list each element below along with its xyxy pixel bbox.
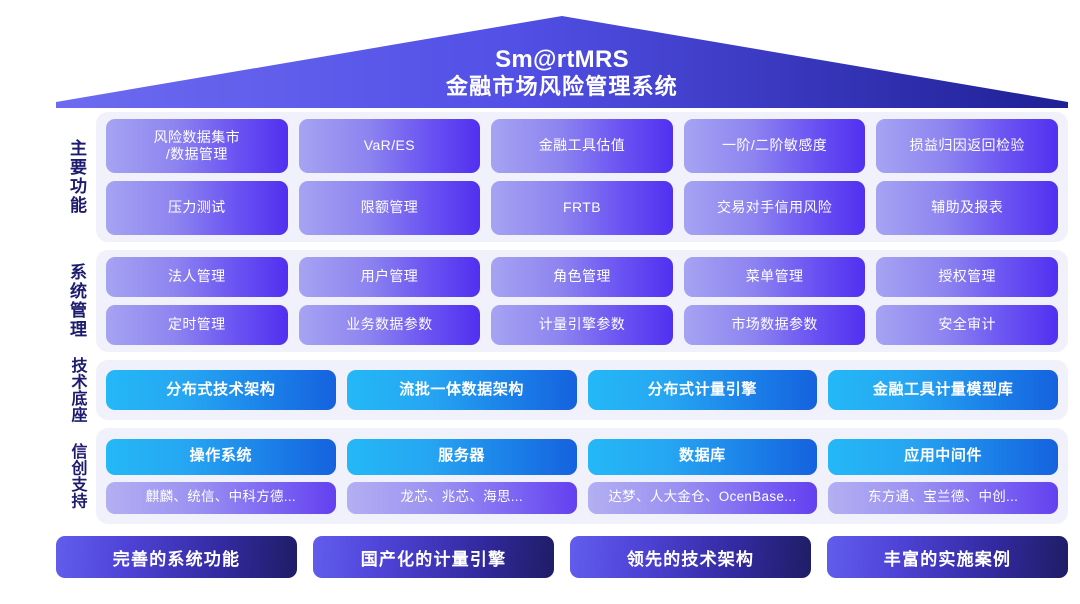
- tile-legal-entity-management[interactable]: 法人管理: [106, 257, 288, 297]
- footer-highlights: 完善的系统功能 国产化的计量引擎 领先的技术架构 丰富的实施案例: [56, 536, 1068, 578]
- tile-label: 应用中间件: [904, 447, 982, 466]
- tile-pnl-attribution-backtest[interactable]: 损益归因返回检验: [876, 119, 1058, 173]
- tile-label: 金融工具估值: [539, 137, 625, 154]
- section-technology-foundation: 技术底座 分布式技术架构 流批一体数据架构 分布式计量引擎 金融工具计量模型库: [56, 360, 1068, 420]
- tile-instrument-valuation[interactable]: 金融工具估值: [491, 119, 673, 173]
- tile-row: 风险数据集市/数据管理 VaR/ES 金融工具估值 一阶/二阶敏感度 损益归因返…: [106, 119, 1058, 173]
- panel-xinchuang-support: 操作系统 麒麟、统信、中科方德... 服务器 龙芯、兆芯、海思...: [96, 428, 1068, 524]
- tile-label: 流批一体数据架构: [399, 381, 524, 400]
- tile-label: 角色管理: [553, 268, 611, 285]
- banner-rich-implementation-cases[interactable]: 丰富的实施案例: [827, 536, 1068, 578]
- tile-label: 授权管理: [938, 268, 996, 285]
- tile-row: 分布式技术架构 流批一体数据架构 分布式计量引擎 金融工具计量模型库: [106, 370, 1058, 410]
- tile-database[interactable]: 数据库: [588, 439, 818, 475]
- tile-operating-system[interactable]: 操作系统: [106, 439, 336, 475]
- tile-row: 操作系统 麒麟、统信、中科方德... 服务器 龙芯、兆芯、海思...: [106, 439, 1058, 514]
- tile-row: 压力测试 限额管理 FRTB 交易对手信用风险 辅助及报表: [106, 181, 1058, 235]
- tile-label: 风险数据集市/数据管理: [154, 129, 240, 164]
- panel-system-management: 法人管理 用户管理 角色管理 菜单管理 授权管理 定时管理: [96, 250, 1068, 352]
- tile-label: 金融工具计量模型库: [873, 381, 1013, 400]
- tile-stream-batch-data-architecture[interactable]: 流批一体数据架构: [347, 370, 577, 410]
- tile-label: 分布式技术架构: [166, 381, 275, 400]
- tile-stress-testing[interactable]: 压力测试: [106, 181, 288, 235]
- tile-row: 法人管理 用户管理 角色管理 菜单管理 授权管理: [106, 257, 1058, 297]
- xinchuang-group-server: 服务器 龙芯、兆芯、海思...: [347, 439, 577, 514]
- tile-label: 法人管理: [168, 268, 226, 285]
- tile-menu-management[interactable]: 菜单管理: [684, 257, 866, 297]
- tile-server-vendors[interactable]: 龙芯、兆芯、海思...: [347, 482, 577, 514]
- tile-business-data-params[interactable]: 业务数据参数: [299, 305, 481, 345]
- banner-complete-system-functions[interactable]: 完善的系统功能: [56, 536, 297, 578]
- tile-label: 定时管理: [168, 316, 226, 333]
- section-label-main-functions: 主要功能: [56, 112, 96, 242]
- tile-label: 损益归因返回检验: [910, 137, 1025, 154]
- tile-security-audit[interactable]: 安全审计: [876, 305, 1058, 345]
- tile-market-data-params[interactable]: 市场数据参数: [684, 305, 866, 345]
- tile-label: 达梦、人大金仓、OcenBase...: [608, 489, 796, 506]
- tile-distributed-architecture[interactable]: 分布式技术架构: [106, 370, 336, 410]
- section-label-xinchuang-support: 信创支持: [56, 428, 96, 524]
- architecture-diagram: Sm@rtMRS 金融市场风险管理系统 主要功能 风险数据集市/数据管理 VaR…: [0, 0, 1080, 604]
- tile-label: 交易对手信用风险: [717, 199, 832, 216]
- tile-auxiliary-reports[interactable]: 辅助及报表: [876, 181, 1058, 235]
- tile-instrument-model-library[interactable]: 金融工具计量模型库: [828, 370, 1058, 410]
- tile-authorization-management[interactable]: 授权管理: [876, 257, 1058, 297]
- tile-role-management[interactable]: 角色管理: [491, 257, 673, 297]
- tile-scheduler-management[interactable]: 定时管理: [106, 305, 288, 345]
- banner-label: 国产化的计量引擎: [361, 545, 507, 570]
- tile-label: VaR/ES: [364, 137, 415, 154]
- banner-label: 完善的系统功能: [113, 545, 240, 570]
- section-xinchuang-support: 信创支持 操作系统 麒麟、统信、中科方德... 服务器 龙芯、: [56, 428, 1068, 524]
- xinchuang-group-middleware: 应用中间件 东方通、宝兰德、中创...: [828, 439, 1058, 514]
- tile-row: 定时管理 业务数据参数 计量引擎参数 市场数据参数 安全审计: [106, 305, 1058, 345]
- panel-technology-foundation: 分布式技术架构 流批一体数据架构 分布式计量引擎 金融工具计量模型库: [96, 360, 1068, 420]
- tile-distributed-calc-engine[interactable]: 分布式计量引擎: [588, 370, 818, 410]
- tile-user-management[interactable]: 用户管理: [299, 257, 481, 297]
- tile-label: 一阶/二阶敏感度: [722, 137, 827, 154]
- tile-application-middleware-vendors[interactable]: 东方通、宝兰德、中创...: [828, 482, 1058, 514]
- tile-label: 数据库: [679, 447, 726, 466]
- tile-label: 压力测试: [168, 199, 226, 216]
- tile-var-es[interactable]: VaR/ES: [299, 119, 481, 173]
- section-label-text: 主要功能: [67, 139, 85, 215]
- tile-label: 业务数据参数: [346, 316, 432, 333]
- tile-label: 龙芯、兆芯、海思...: [400, 489, 523, 506]
- tile-server[interactable]: 服务器: [347, 439, 577, 475]
- tile-risk-datamart[interactable]: 风险数据集市/数据管理: [106, 119, 288, 173]
- banner-domestic-calc-engine[interactable]: 国产化的计量引擎: [313, 536, 554, 578]
- xinchuang-group-database: 数据库 达梦、人大金仓、OcenBase...: [588, 439, 818, 514]
- banner-label: 丰富的实施案例: [884, 545, 1011, 570]
- roof-header: Sm@rtMRS 金融市场风险管理系统: [56, 16, 1068, 108]
- section-system-management: 系统管理 法人管理 用户管理 角色管理 菜单管理 授权管理: [56, 250, 1068, 352]
- section-label-text: 系统管理: [67, 263, 85, 339]
- tile-sensitivity[interactable]: 一阶/二阶敏感度: [684, 119, 866, 173]
- tile-label: 限额管理: [361, 199, 419, 216]
- tile-label: 辅助及报表: [931, 199, 1003, 216]
- tile-label: 计量引擎参数: [539, 316, 625, 333]
- tile-calc-engine-params[interactable]: 计量引擎参数: [491, 305, 673, 345]
- tile-frtb[interactable]: FRTB: [491, 181, 673, 235]
- tile-limit-management[interactable]: 限额管理: [299, 181, 481, 235]
- roof-shape: [56, 16, 1068, 108]
- tile-label: 用户管理: [361, 268, 419, 285]
- banner-leading-tech-architecture[interactable]: 领先的技术架构: [570, 536, 811, 578]
- section-main-functions: 主要功能 风险数据集市/数据管理 VaR/ES 金融工具估值 一阶/二阶敏感度 …: [56, 112, 1068, 242]
- tile-database-vendors[interactable]: 达梦、人大金仓、OcenBase...: [588, 482, 818, 514]
- banner-label: 领先的技术架构: [627, 545, 754, 570]
- tile-label: 安全审计: [938, 316, 996, 333]
- tile-label: FRTB: [563, 199, 601, 216]
- tile-counterparty-credit-risk[interactable]: 交易对手信用风险: [684, 181, 866, 235]
- tile-label: 麒麟、统信、中科方德...: [146, 489, 296, 506]
- section-label-text: 技术底座: [68, 357, 85, 423]
- panel-main-functions: 风险数据集市/数据管理 VaR/ES 金融工具估值 一阶/二阶敏感度 损益归因返…: [96, 112, 1068, 242]
- section-label-technology-foundation: 技术底座: [56, 360, 96, 420]
- section-label-system-management: 系统管理: [56, 250, 96, 352]
- tile-label: 分布式计量引擎: [648, 381, 757, 400]
- tile-label: 东方通、宝兰德、中创...: [868, 489, 1018, 506]
- tile-label: 市场数据参数: [731, 316, 817, 333]
- section-label-text: 信创支持: [68, 443, 85, 509]
- tile-label: 菜单管理: [746, 268, 804, 285]
- tile-label: 服务器: [438, 447, 485, 466]
- tile-application-middleware[interactable]: 应用中间件: [828, 439, 1058, 475]
- tile-operating-system-vendors[interactable]: 麒麟、统信、中科方德...: [106, 482, 336, 514]
- tile-label: 操作系统: [190, 447, 252, 466]
- xinchuang-group-os: 操作系统 麒麟、统信、中科方德...: [106, 439, 336, 514]
